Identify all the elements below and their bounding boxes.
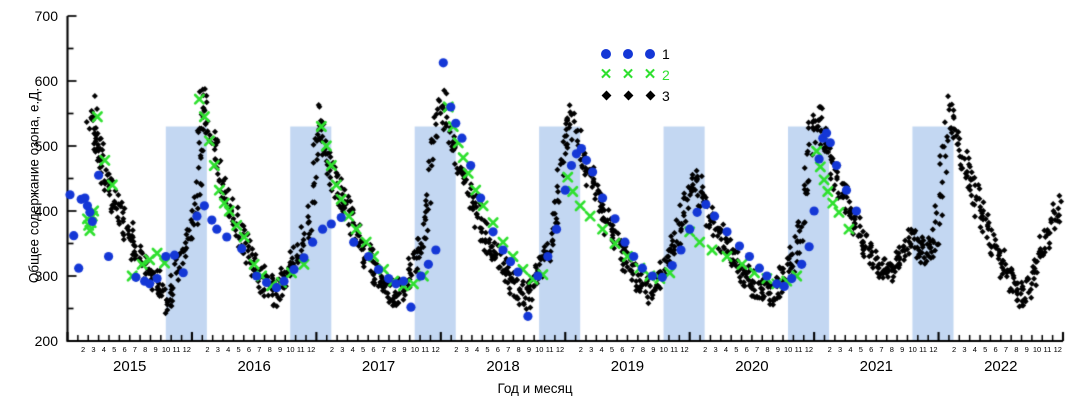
legend-item: ✕✕✕2: [595, 64, 670, 85]
x-tick-month-label: 6: [869, 345, 873, 354]
x-tick-month-label: 6: [496, 345, 500, 354]
legend-label: 2: [662, 67, 670, 83]
x-tick-year-label: 2017: [362, 358, 395, 375]
x-tick-month-label: 11: [670, 345, 678, 354]
x-tick-year-label: 2018: [486, 358, 519, 375]
y-tick-label: 600: [14, 73, 58, 89]
x-tick-month-label: 2: [330, 345, 334, 354]
x-tick-month-label: 3: [838, 345, 842, 354]
x-tick-month-label: 7: [631, 345, 635, 354]
x-tick-month-label: 7: [879, 345, 883, 354]
x-tick-month-label: 9: [278, 345, 282, 354]
x-tick-month-label: 7: [133, 345, 137, 354]
x-tick-month-label: 3: [465, 345, 469, 354]
x-tick-month-label: 3: [216, 345, 220, 354]
legend-diamond-marker-icon: [601, 91, 611, 101]
x-tick-year-label: 2021: [860, 358, 893, 375]
legend-x-marker-icon: ✕: [600, 70, 613, 80]
x-tick-month-label: 7: [506, 345, 510, 354]
x-tick-month-label: 6: [122, 345, 126, 354]
x-tick-month-label: 6: [620, 345, 624, 354]
x-tick-month-label: 4: [102, 345, 106, 354]
legend-diamond-marker-icon: [623, 91, 633, 101]
x-tick-month-label: 2: [81, 345, 85, 354]
x-tick-month-label: 12: [556, 345, 564, 354]
x-tick-month-label: 10: [286, 345, 294, 354]
x-tick-month-label: 7: [382, 345, 386, 354]
x-tick-month-label: 9: [402, 345, 406, 354]
legend-circle-marker-icon: [623, 49, 633, 59]
x-tick-month-label: 9: [154, 345, 158, 354]
x-tick-month-label: 11: [1044, 345, 1052, 354]
x-tick-month-label: 8: [516, 345, 520, 354]
x-tick-year-label: 2015: [113, 358, 146, 375]
x-tick-month-label: 8: [392, 345, 396, 354]
x-tick-month-label: 9: [651, 345, 655, 354]
x-tick-month-label: 9: [1025, 345, 1029, 354]
legend-item: 3: [595, 85, 670, 106]
x-tick-month-label: 4: [724, 345, 728, 354]
x-tick-month-label: 11: [546, 345, 554, 354]
x-tick-month-label: 8: [890, 345, 894, 354]
x-tick-month-label: 7: [1004, 345, 1008, 354]
x-tick-month-label: 5: [734, 345, 738, 354]
x-tick-month-label: 12: [805, 345, 813, 354]
x-tick-month-label: 12: [183, 345, 191, 354]
x-tick-month-label: 12: [431, 345, 439, 354]
x-tick-month-label: 6: [371, 345, 375, 354]
x-tick-month-label: 10: [411, 345, 419, 354]
x-tick-month-label: 10: [660, 345, 668, 354]
legend-circle-marker-icon: [601, 49, 611, 59]
chart-legend: 1✕✕✕23: [595, 43, 670, 106]
x-tick-month-label: 5: [983, 345, 987, 354]
x-tick-month-label: 9: [776, 345, 780, 354]
x-tick-month-label: 3: [340, 345, 344, 354]
x-tick-month-label: 10: [784, 345, 792, 354]
x-tick-month-label: 5: [485, 345, 489, 354]
x-tick-month-label: 4: [351, 345, 355, 354]
x-tick-month-label: 11: [421, 345, 429, 354]
legend-item: 1: [595, 43, 670, 64]
x-tick-month-label: 10: [1033, 345, 1041, 354]
x-tick-year-label: 2019: [611, 358, 644, 375]
x-tick-month-label: 3: [714, 345, 718, 354]
x-tick-month-label: 4: [475, 345, 479, 354]
x-tick-month-label: 4: [848, 345, 852, 354]
x-tick-month-label: 12: [929, 345, 937, 354]
x-axis-title: Год и месяц: [0, 381, 1070, 396]
x-tick-month-label: 3: [962, 345, 966, 354]
x-tick-month-label: 9: [527, 345, 531, 354]
x-tick-month-label: 4: [226, 345, 230, 354]
x-tick-month-label: 5: [361, 345, 365, 354]
legend-circle-marker-icon: [645, 49, 655, 59]
x-tick-year-label: 2016: [237, 358, 270, 375]
y-tick-label: 400: [14, 203, 58, 219]
x-tick-month-label: 8: [765, 345, 769, 354]
x-tick-year-label: 2022: [984, 358, 1017, 375]
x-tick-month-label: 12: [1054, 345, 1062, 354]
legend-x-marker-icon: ✕: [644, 70, 657, 80]
x-tick-month-label: 8: [641, 345, 645, 354]
x-tick-month-label: 8: [143, 345, 147, 354]
x-tick-month-label: 5: [610, 345, 614, 354]
x-tick-month-label: 6: [994, 345, 998, 354]
x-tick-month-label: 12: [680, 345, 688, 354]
x-tick-month-label: 3: [589, 345, 593, 354]
x-tick-month-label: 2: [828, 345, 832, 354]
x-tick-month-label: 11: [172, 345, 180, 354]
x-tick-month-label: 5: [237, 345, 241, 354]
y-tick-label: 200: [14, 333, 58, 349]
x-tick-month-label: 11: [795, 345, 803, 354]
y-tick-label: 500: [14, 138, 58, 154]
x-tick-month-label: 9: [900, 345, 904, 354]
x-tick-month-label: 3: [91, 345, 95, 354]
ozone-scatter-chart: Общее содержание озона, е.Д. Год и месяц…: [0, 0, 1070, 407]
x-tick-month-label: 2: [952, 345, 956, 354]
x-tick-month-label: 2: [703, 345, 707, 354]
x-tick-month-label: 10: [908, 345, 916, 354]
x-tick-month-label: 5: [859, 345, 863, 354]
x-tick-month-label: 8: [1014, 345, 1018, 354]
x-tick-month-label: 11: [919, 345, 927, 354]
y-tick-label: 700: [14, 8, 58, 24]
legend-x-marker-icon: ✕: [622, 70, 635, 80]
x-tick-month-label: 7: [755, 345, 759, 354]
x-tick-month-label: 10: [162, 345, 170, 354]
x-tick-year-label: 2020: [735, 358, 768, 375]
x-tick-month-label: 5: [112, 345, 116, 354]
y-tick-label: 300: [14, 268, 58, 284]
legend-diamond-marker-icon: [645, 91, 655, 101]
legend-label: 3: [662, 88, 670, 104]
x-tick-month-label: 2: [454, 345, 458, 354]
x-tick-month-label: 6: [745, 345, 749, 354]
x-tick-month-label: 10: [535, 345, 543, 354]
x-tick-month-label: 12: [307, 345, 315, 354]
x-tick-month-label: 4: [599, 345, 603, 354]
x-tick-month-label: 7: [257, 345, 261, 354]
x-tick-month-label: 11: [297, 345, 305, 354]
x-tick-month-label: 6: [247, 345, 251, 354]
x-tick-month-label: 2: [205, 345, 209, 354]
x-tick-month-label: 4: [973, 345, 977, 354]
legend-label: 1: [662, 46, 670, 62]
x-tick-month-label: 8: [268, 345, 272, 354]
x-tick-month-label: 2: [579, 345, 583, 354]
